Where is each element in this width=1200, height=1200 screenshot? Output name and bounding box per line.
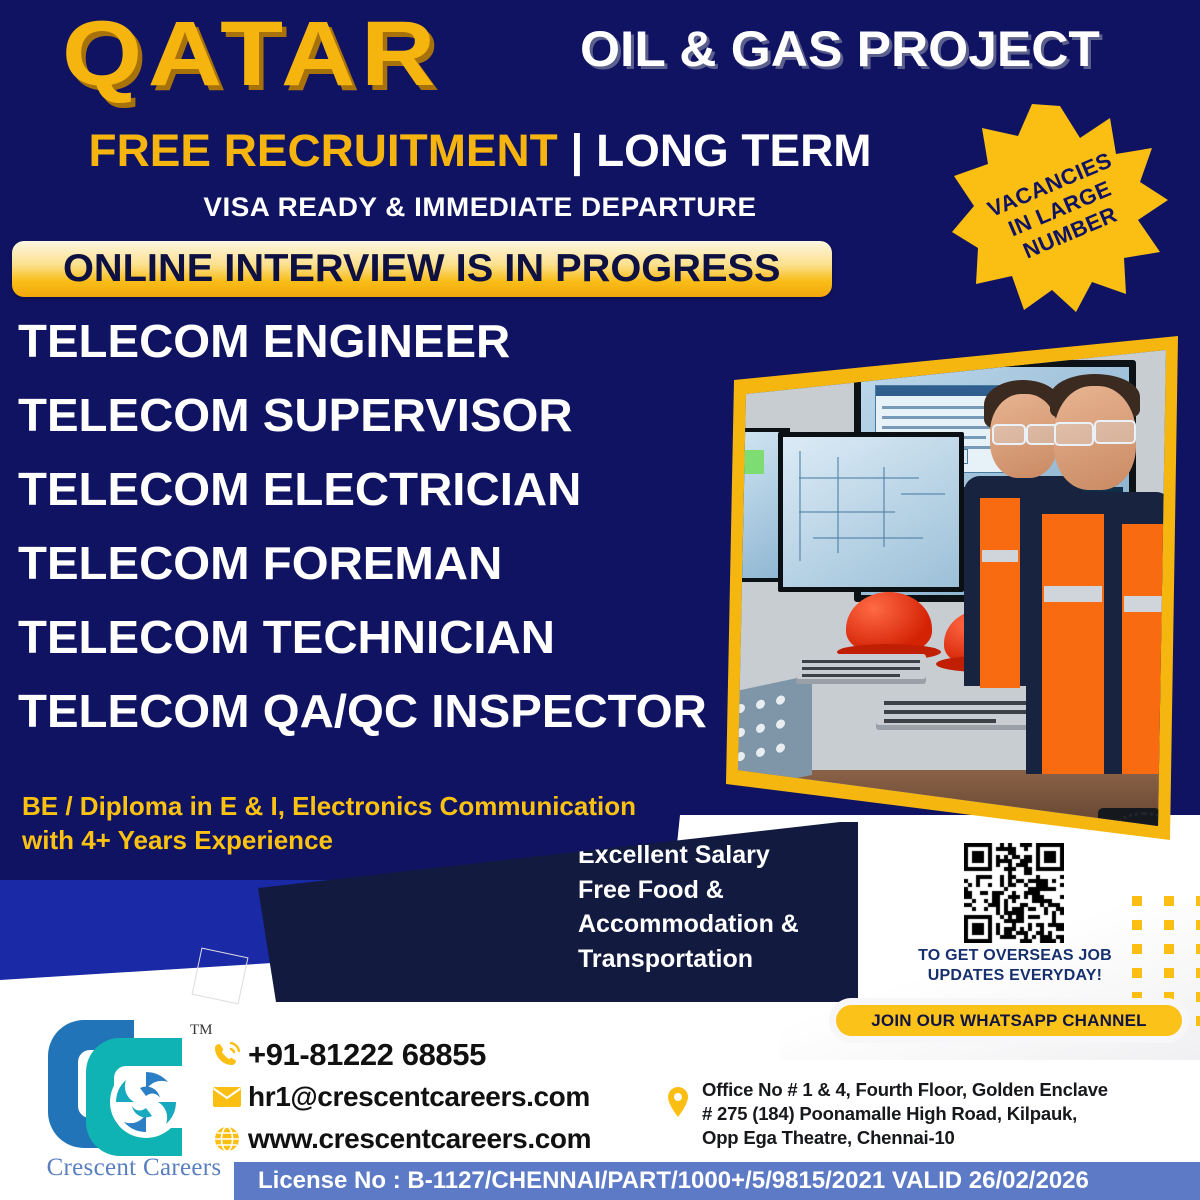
contact-website-row[interactable]: www.crescentcareers.com (206, 1118, 676, 1160)
whatsapp-channel-button[interactable]: JOIN OUR WHATSAPP CHANNEL (836, 1005, 1182, 1036)
contact-phone-row[interactable]: +91-81222 68855 (206, 1034, 676, 1076)
phone-number: +91-81222 68855 (248, 1037, 486, 1073)
globe-icon (206, 1125, 248, 1153)
online-interview-banner: ONLINE INTERVIEW IS IN PROGRESS (12, 241, 832, 297)
office-address: Office No # 1 & 4, Fourth Floor, Golden … (666, 1078, 1186, 1151)
whatsapp-channel-label: JOIN OUR WHATSAPP CHANNEL (871, 1011, 1146, 1031)
qr-caption-line-2: UPDATES EVERYDAY! (884, 966, 1146, 986)
contact-list: +91-81222 68855 hr1@crescentcareers.com … (206, 1034, 676, 1160)
job-title: TELECOM FOREMAN (18, 540, 760, 586)
address-line-2: # 275 (184) Poonamalle High Road, Kilpau… (702, 1102, 1108, 1126)
qualification-line-1: BE / Diploma in E & I, Electronics Commu… (22, 790, 782, 824)
address-line-3: Opp Ega Theatre, Chennai-10 (702, 1126, 1108, 1150)
recruitment-white-text: | LONG TERM (570, 125, 871, 176)
website-url: www.crescentcareers.com (248, 1123, 591, 1155)
recruitment-gold-text: FREE RECRUITMENT (89, 125, 558, 176)
benefit-line-2: Free Food & (578, 873, 848, 908)
envelope-icon (206, 1085, 248, 1109)
visa-note: VISA READY & IMMEDIATE DEPARTURE (0, 192, 974, 223)
job-title: TELECOM ENGINEER (18, 318, 760, 364)
control-room-photo: CLOSE OPEN (726, 336, 1178, 840)
recruitment-poster: QATAR OIL & GAS PROJECT FREE RECRUITMENT… (0, 0, 1200, 1200)
company-logo: TM Crescent Careers (42, 1014, 222, 1184)
job-title: TELECOM ELECTRICIAN (18, 466, 760, 512)
project-title: OIL & GAS PROJECT (580, 24, 1100, 74)
qr-caption: TO GET OVERSEAS JOB UPDATES EVERYDAY! (884, 946, 1146, 985)
benefits-text: Excellent Salary Free Food & Accommodati… (578, 838, 848, 976)
qr-caption-line-1: TO GET OVERSEAS JOB (884, 946, 1146, 966)
address-lines: Office No # 1 & 4, Fourth Floor, Golden … (702, 1078, 1108, 1151)
benefit-line-3: Accommodation & (578, 907, 848, 942)
recruitment-line: FREE RECRUITMENT | LONG TERM (0, 128, 970, 173)
license-bar: License No : B-1127/CHENNAI/PART/1000+/5… (234, 1162, 1200, 1200)
email-address: hr1@crescentcareers.com (248, 1081, 590, 1113)
job-title-list: TELECOM ENGINEER TELECOM SUPERVISOR TELE… (18, 318, 738, 762)
online-interview-text: ONLINE INTERVIEW IS IN PROGRESS (63, 247, 781, 291)
phone-icon (206, 1040, 248, 1070)
job-title: TELECOM QA/QC INSPECTOR (18, 688, 760, 734)
contact-email-row[interactable]: hr1@crescentcareers.com (206, 1076, 676, 1118)
vacancies-badge: VACANCIES IN LARGE NUMBER (952, 104, 1168, 314)
job-title: TELECOM TECHNICIAN (18, 614, 760, 660)
decorative-square (192, 948, 249, 1005)
qr-code[interactable] (964, 843, 1064, 943)
control-room-photo-frame: CLOSE OPEN (726, 336, 1178, 840)
benefit-line-4: Transportation (578, 942, 848, 977)
location-pin-icon (666, 1078, 692, 1151)
address-line-1: Office No # 1 & 4, Fourth Floor, Golden … (702, 1078, 1108, 1102)
country-title: QATAR (62, 8, 441, 100)
license-text: License No : B-1127/CHENNAI/PART/1000+/5… (258, 1167, 1089, 1195)
job-title: TELECOM SUPERVISOR (18, 392, 760, 438)
